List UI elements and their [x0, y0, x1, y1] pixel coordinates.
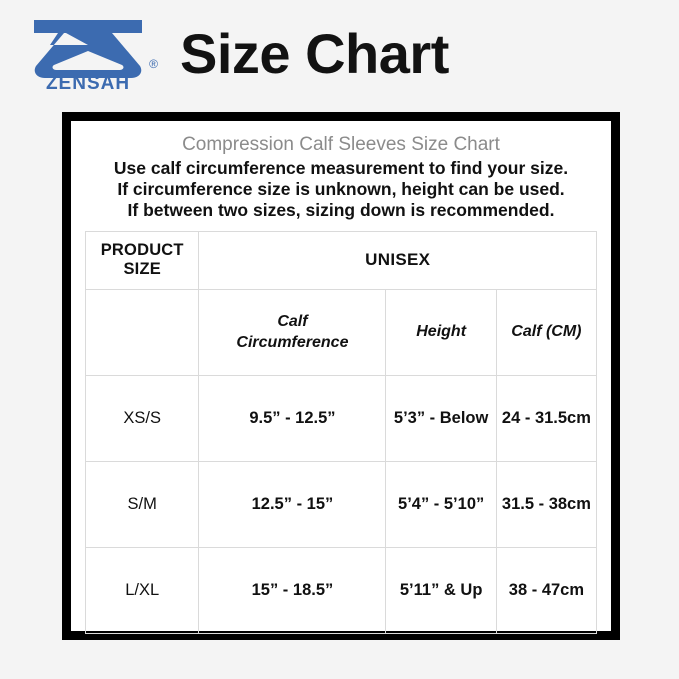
subheader-calf-cm: Calf (CM) — [496, 289, 596, 375]
registered-trademark-icon: ® — [149, 58, 158, 70]
header-product-size-line1: PRODUCT — [101, 241, 184, 259]
header-product-size: PRODUCT SIZE — [86, 231, 199, 289]
row-size: L/XL — [86, 547, 199, 633]
page-title: Size Chart — [180, 26, 449, 82]
row-calf-circumference: 15” - 18.5” — [199, 547, 386, 633]
subheader-calf-circumference-line2: Circumference — [236, 334, 348, 351]
table-row: L/XL 15” - 18.5” 5’11” & Up 38 - 47cm — [86, 547, 597, 633]
chart-card: Compression Calf Sleeves Size Chart Use … — [71, 121, 611, 631]
size-chart-page: ZENSAH ® Size Chart Compression Calf Sle… — [0, 0, 679, 679]
chart-frame: Compression Calf Sleeves Size Chart Use … — [62, 112, 620, 640]
header-product-size-line2: SIZE — [123, 260, 160, 278]
instruction-line-3: If between two sizes, sizing down is rec… — [85, 200, 597, 221]
row-calf-cm: 31.5 - 38cm — [496, 461, 596, 547]
row-height: 5’11” & Up — [386, 547, 496, 633]
row-height: 5’3” - Below — [386, 375, 496, 461]
zensah-logo: ZENSAH ® — [28, 18, 148, 90]
size-chart-table: PRODUCT SIZE UNISEX Calf Circumference H… — [85, 231, 597, 634]
row-calf-cm: 38 - 47cm — [496, 547, 596, 633]
table-subheader-row: Calf Circumference Height Calf (CM) — [86, 289, 597, 375]
table-row: XS/S 9.5” - 12.5” 5’3” - Below 24 - 31.5… — [86, 375, 597, 461]
table-header-row-group: PRODUCT SIZE UNISEX — [86, 231, 597, 289]
chart-subtitle: Compression Calf Sleeves Size Chart — [85, 129, 597, 157]
instruction-line-2: If circumference size is unknown, height… — [85, 179, 597, 200]
instruction-line-1: Use calf circumference measurement to fi… — [85, 158, 597, 179]
subheader-calf-circumference-line1: Calf — [277, 313, 307, 330]
table-row: S/M 12.5” - 15” 5’4” - 5’10” 31.5 - 38cm — [86, 461, 597, 547]
subheader-height: Height — [386, 289, 496, 375]
instructions-block: Use calf circumference measurement to fi… — [85, 157, 597, 222]
subheader-calf-circumference: Calf Circumference — [199, 289, 386, 375]
row-size: XS/S — [86, 375, 199, 461]
subheader-blank-cell — [86, 289, 199, 375]
row-height: 5’4” - 5’10” — [386, 461, 496, 547]
row-calf-circumference: 12.5” - 15” — [199, 461, 386, 547]
header-unisex: UNISEX — [199, 231, 597, 289]
row-calf-circumference: 9.5” - 12.5” — [199, 375, 386, 461]
svg-text:ZENSAH: ZENSAH — [46, 73, 130, 90]
row-size: S/M — [86, 461, 199, 547]
page-header: ZENSAH ® Size Chart — [0, 0, 679, 108]
row-calf-cm: 24 - 31.5cm — [496, 375, 596, 461]
